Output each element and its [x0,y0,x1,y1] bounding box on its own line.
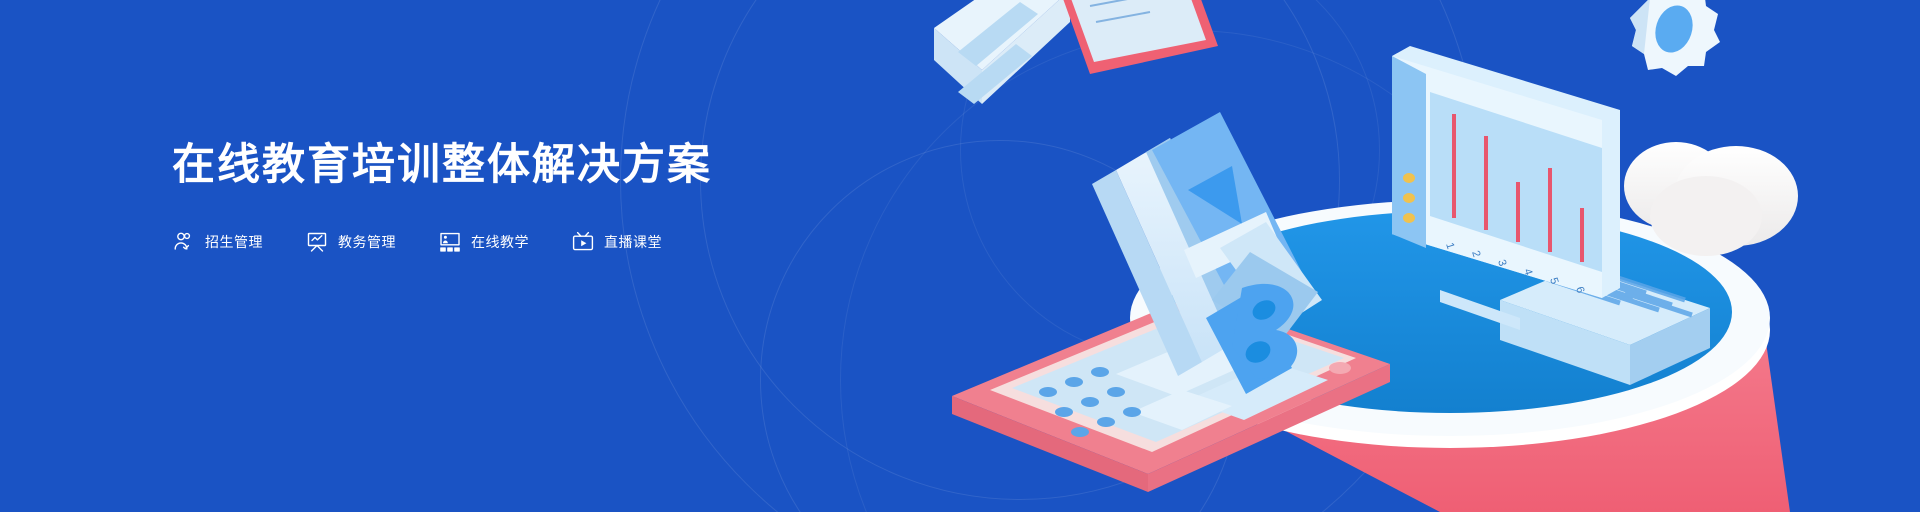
live-video-icon [571,230,595,254]
clipboard-document [1042,0,1218,74]
open-book [934,0,1070,104]
feature-list: 招生管理 教务管理 [172,230,812,254]
hero-banner: 1 2 3 4 5 6 [0,0,1920,512]
feature-label: 在线教学 [471,232,529,252]
gear-3d [1630,0,1720,76]
feature-item-online-teaching[interactable]: 在线教学 [438,230,529,254]
page-title: 在线教育培训整体解决方案 [172,140,812,192]
window-dots [1403,173,1415,223]
user-check-icon [172,230,196,254]
feature-label: 直播课堂 [604,232,662,252]
online-education-illustration: 1 2 3 4 5 6 [920,0,1920,512]
feature-item-enrollment[interactable]: 招生管理 [172,230,263,254]
feature-label: 招生管理 [205,232,263,252]
feature-label: 教务管理 [338,232,396,252]
feature-item-academic-affairs[interactable]: 教务管理 [305,230,396,254]
hero-text-block: 在线教育培训整体解决方案 招生管理 [172,140,812,254]
classroom-teaching-icon [438,230,462,254]
chart-easel-icon [305,230,329,254]
feature-item-live-classroom[interactable]: 直播课堂 [571,230,662,254]
